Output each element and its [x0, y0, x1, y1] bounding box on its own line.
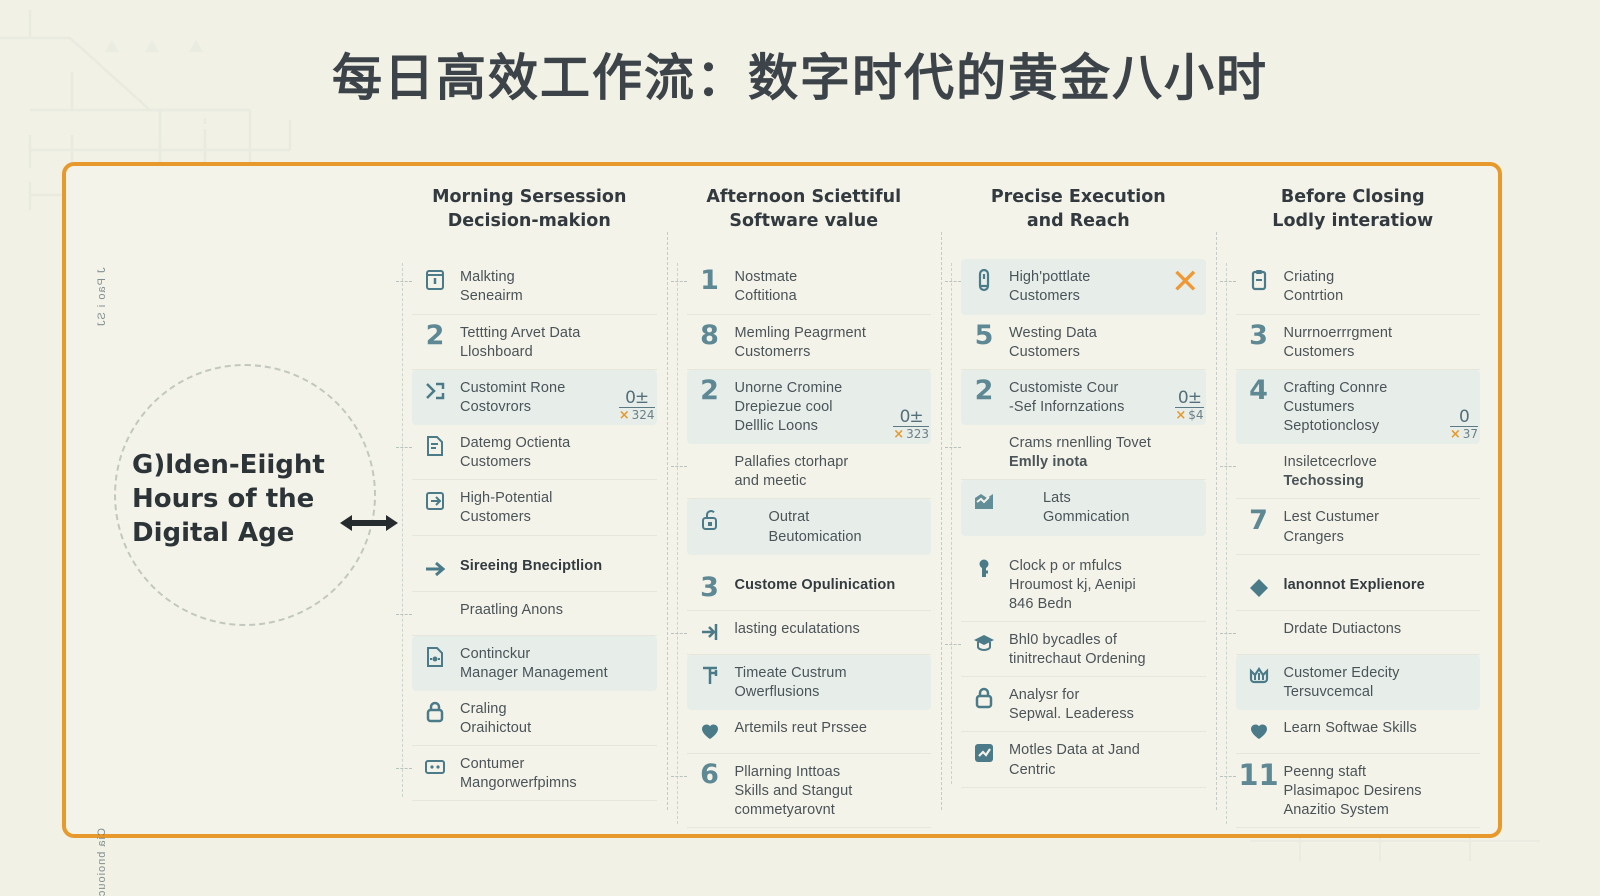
list-item[interactable]: Praatling Anons	[412, 592, 657, 636]
list-item-line1: Learn Softwae Skills	[1284, 719, 1475, 738]
list-item-text: ContumerMangorwerfpimns	[460, 753, 651, 793]
list-item-line1: Contumer	[460, 755, 651, 774]
list-item-text: LatsGommication	[1009, 487, 1200, 527]
graduation-icon	[969, 629, 999, 657]
list-item-line1: Praatling Anons	[460, 601, 651, 620]
number-label: 2	[426, 322, 445, 349]
list-item[interactable]: ContinckurManager Management	[412, 636, 657, 691]
list-item-line2: Customers	[1009, 343, 1200, 362]
list-item[interactable]: 2Unorne CromineDrepiezue coolDelllic Loo…	[687, 370, 932, 444]
list-item[interactable]: Customint RoneCostovrors0±×324	[412, 370, 657, 425]
list-item-text: Crafting ConnreCustumersSeptotionclosy	[1284, 377, 1475, 436]
list-item-text: Customer EdecityTersuvcemcal	[1284, 662, 1475, 702]
list-item-number: 3	[695, 574, 725, 602]
document-icon	[420, 432, 450, 460]
number-label: 1	[700, 267, 719, 294]
list-item-line1: Clock p or mfulcs	[1009, 557, 1200, 576]
list-item-line1: Bhl0 bycadles of	[1009, 631, 1200, 650]
column-morning: Morning SersessionDecision-makionMalktin…	[392, 172, 667, 828]
number-label: 7	[1249, 507, 1268, 534]
connector-line	[1220, 633, 1236, 634]
list-item-line2: Gommication	[1043, 508, 1200, 527]
list-item[interactable]: 7Lest CustumerCrangers	[1236, 499, 1481, 554]
metric-badge-top: 0±	[1175, 390, 1203, 407]
list-item-line3: Anazitio System	[1284, 801, 1475, 820]
list-item-line1: Outrat	[769, 508, 926, 527]
list-item-line3: Septotionclosy	[1284, 417, 1475, 436]
metric-badge: 0±×323	[893, 409, 929, 441]
list-item-line1: Crafting Connre	[1284, 379, 1475, 398]
list-item-text: Motles Data at JandCentric	[1009, 739, 1200, 779]
mobile-icon	[969, 266, 999, 294]
metric-badge: 0±×$4	[1175, 390, 1203, 422]
list-item-line1: Westing Data	[1009, 324, 1200, 343]
list-item-line1: Peenng staft	[1284, 763, 1475, 782]
no-marker	[695, 451, 725, 479]
list-item-line2: Oraihictout	[460, 719, 651, 738]
connector-line	[671, 776, 687, 777]
column-list-morning: MalktingSeneairm2Tettting Arvet DataLlos…	[402, 259, 657, 801]
list-item-text: OutratBeutomication	[735, 506, 926, 546]
list-item-text: CriatingContrtion	[1284, 266, 1475, 306]
book-icon	[420, 266, 450, 294]
list-item-line2: Crangers	[1284, 528, 1475, 547]
list-item-line1: Craling	[460, 700, 651, 719]
column-header-line2: and Reach	[951, 210, 1206, 234]
list-item-number: 5	[969, 322, 999, 350]
metric-badge: 0×37	[1450, 409, 1478, 441]
chart-box-icon	[969, 739, 999, 767]
list-item-line1: Timeate Custrum	[735, 664, 926, 683]
list-item-line2: Mangorwerfpimns	[460, 774, 651, 793]
column-header-morning: Morning SersessionDecision-makion	[402, 186, 657, 233]
list-item-line2: Emlly inota	[1009, 453, 1200, 472]
list-item[interactable]: CriatingContrtion	[1236, 259, 1481, 314]
list-item-line1: Artemils reut Prssee	[735, 719, 926, 738]
list-item-line1: Custome Opulinication	[735, 576, 926, 595]
list-item[interactable]: Learn Softwae Skills	[1236, 710, 1481, 754]
list-item-text: Peenng staftPlasimapoc DesirensAnazitio …	[1284, 761, 1475, 820]
crown-icon	[1244, 662, 1274, 690]
metric-badge-bottom: ×324	[619, 407, 655, 422]
list-item-line1: Malkting	[460, 268, 651, 287]
number-label: 11	[1238, 761, 1278, 790]
list-item-line2: Techossing	[1284, 472, 1475, 491]
list-item[interactable]: Sireeing Bneciptlion	[412, 548, 657, 592]
list-item-text: InsiletcecrloveTechossing	[1284, 451, 1475, 491]
list-item[interactable]: 3Custome Opulinication	[687, 567, 932, 611]
multiply-icon: ×	[893, 427, 904, 442]
list-item-line1: Analysr for	[1009, 686, 1200, 705]
list-item[interactable]: 2Customiste Cour-Sef Infornzations0±×$4	[961, 370, 1206, 425]
list-item[interactable]: MalktingSeneairm	[412, 259, 657, 314]
list-item[interactable]: 11Peenng staftPlasimapoc DesirensAnaziti…	[1236, 754, 1481, 828]
arrow-right-icon	[420, 555, 450, 583]
ruler-icon	[695, 662, 725, 690]
metric-badge-top: 0	[1450, 409, 1478, 426]
list-item-line2: Skills and Stangut	[735, 782, 926, 801]
diamond-icon	[1244, 574, 1274, 602]
list-item-text: lanonnot Explienore	[1284, 574, 1475, 595]
metric-badge-value: 324	[632, 408, 655, 422]
x-close-icon[interactable]: ✕	[1171, 265, 1200, 299]
list-item[interactable]: 5Westing DataCustomers	[961, 315, 1206, 370]
list-item-line1: Customiste Cour	[1009, 379, 1200, 398]
number-label: 6	[700, 761, 719, 788]
list-item-text: Bhl0 bycadles oftinitrechaut Ordening	[1009, 629, 1200, 669]
list-item-number: 8	[695, 322, 725, 350]
hub-title: G)lden-Eiight Hours of the Digital Age	[132, 449, 362, 550]
list-item[interactable]: Customer EdecityTersuvcemcal	[1236, 655, 1481, 710]
list-item-text: NostmateCoftitiona	[735, 266, 926, 306]
list-item[interactable]: Timeate CustrumOwerflusions	[687, 655, 932, 710]
list-item-line2: Customers	[460, 453, 651, 472]
list-item-text: Pallafies ctorhaprand meetic	[735, 451, 926, 491]
column-header-line1: Afternoon Sciettiful	[677, 186, 932, 210]
central-hub: G)lden-Eiight Hours of the Digital Age	[92, 172, 392, 828]
list-item[interactable]: Crams rnenlling TovetEmlly inota	[961, 425, 1206, 480]
list-item[interactable]: Bhl0 bycadles oftinitrechaut Ordening	[961, 622, 1206, 677]
list-item-line3: 846 Bedn	[1009, 595, 1200, 614]
list-item[interactable]: 3NurrnoerrrgmentCustomers	[1236, 315, 1481, 370]
double-arrow-icon	[338, 512, 400, 534]
list-item-line1: Lest Custumer	[1284, 508, 1475, 527]
list-item-text: Customiste Cour-Sef Infornzations	[1009, 377, 1200, 417]
workflow-board: J Pao i SJ Cia bnoiouc 1 aig G)lden-Eiig…	[62, 162, 1502, 838]
multiply-icon: ×	[619, 408, 630, 423]
list-item-text: Analysr forSepwal. Leaderess	[1009, 684, 1200, 724]
list-item-text: Tettting Arvet DataLloshboard	[460, 322, 651, 362]
list-item-line2: Seneairm	[460, 287, 651, 306]
connector-line	[396, 281, 412, 282]
multiply-icon: ×	[1175, 408, 1186, 423]
number-label: 8	[700, 322, 719, 349]
list-item-number: 2	[420, 322, 450, 350]
list-item-text: Timeate CustrumOwerflusions	[735, 662, 926, 702]
list-item-line2: Coftitiona	[735, 287, 926, 306]
list-item-text: Crams rnenlling TovetEmlly inota	[1009, 432, 1200, 472]
metric-badge: 0±×324	[619, 390, 655, 422]
metric-badge-top: 0±	[619, 390, 655, 407]
list-item-line1: Lats	[1043, 489, 1200, 508]
list-item[interactable]: lasting eculatations	[687, 611, 932, 655]
list-item-line1: Nostmate	[735, 268, 926, 287]
list-item[interactable]: Artemils reut Prssee	[687, 710, 932, 754]
metric-badge-value: 323	[906, 427, 929, 441]
connector-line	[1220, 281, 1236, 282]
number-label: 2	[700, 377, 719, 404]
page-title: 每日高效工作流：数字时代的黄金八小时	[0, 38, 1600, 110]
list-item-line2: Customers	[1284, 343, 1475, 362]
list-item[interactable]: High-PotentialCustomers	[412, 480, 657, 535]
list-item[interactable]: lanonnot Explienore	[1236, 567, 1481, 611]
list-item-text: Lest CustumerCrangers	[1284, 506, 1475, 546]
column-list-afternoon: 1NostmateCoftitiona8Memling PeagrmentCus…	[677, 259, 932, 828]
list-item-text: CralingOraihictout	[460, 698, 651, 738]
list-item-line1: Datemg Octienta	[460, 434, 651, 453]
no-marker	[1244, 451, 1274, 479]
list-item-text: Sireeing Bneciptlion	[460, 555, 651, 576]
shuffle-icon	[420, 377, 450, 405]
list-item-line1: Nurrnoerrrgment	[1284, 324, 1475, 343]
list-item[interactable]: InsiletcecrloveTechossing	[1236, 444, 1481, 499]
hub-title-line3: Digital Age	[132, 517, 362, 551]
list-item-line1: Pllarning Inttoas	[735, 763, 926, 782]
list-item[interactable]: Pallafies ctorhaprand meetic	[687, 444, 932, 499]
list-item-number: 2	[695, 377, 725, 405]
list-item-line2: Plasimapoc Desirens	[1284, 782, 1475, 801]
list-item-text: Learn Softwae Skills	[1284, 717, 1475, 738]
list-item-text: Drdate Dutiactons	[1284, 618, 1475, 639]
export-icon	[420, 487, 450, 515]
connector-line	[945, 281, 961, 282]
hub-title-line2: Hours of the	[132, 483, 362, 517]
list-item-number: 1	[695, 266, 725, 294]
no-marker	[1244, 618, 1274, 646]
column-header-line1: Precise Execution	[951, 186, 1206, 210]
list-item-line2: Beutomication	[769, 528, 926, 547]
columns-container: Morning SersessionDecision-makionMalktin…	[392, 172, 1490, 828]
list-item[interactable]: LatsGommication	[961, 480, 1206, 535]
connector-line	[396, 447, 412, 448]
connector-line	[671, 281, 687, 282]
number-label: 3	[700, 574, 719, 601]
login-icon	[695, 618, 725, 646]
list-item-line1: Customer Edecity	[1284, 664, 1475, 683]
file-settings-icon	[420, 643, 450, 671]
list-item-line2: Manager Management	[460, 664, 651, 683]
list-item-text: Datemg OctientaCustomers	[460, 432, 651, 472]
list-item-line2: -Sef Infornzations	[1009, 398, 1200, 417]
list-item-text: Artemils reut Prssee	[735, 717, 926, 738]
lock-icon	[420, 698, 450, 726]
number-label: 4	[1249, 377, 1268, 404]
lock-icon	[969, 684, 999, 712]
list-item-number: 6	[695, 761, 725, 789]
number-label: 2	[975, 377, 994, 404]
list-item[interactable]: Analysr forSepwal. Leaderess	[961, 677, 1206, 732]
heart-icon	[695, 717, 725, 745]
column-header-line1: Before Closing	[1226, 186, 1481, 210]
list-item-text: Memling PeagrmentCustomerrs	[735, 322, 926, 362]
list-item-line1: Motles Data at Jand	[1009, 741, 1200, 760]
list-item-line1: Memling Peagrment	[735, 324, 926, 343]
list-item-line1: Continckur	[460, 645, 651, 664]
column-afternoon: Afternoon SciettifulSoftware value1Nostm…	[667, 172, 942, 828]
heart-icon	[1244, 717, 1274, 745]
list-item-line2: Customerrs	[735, 343, 926, 362]
list-item-line2: Centric	[1009, 761, 1200, 780]
number-label: 3	[1249, 322, 1268, 349]
clipboard-icon	[1244, 266, 1274, 294]
list-item[interactable]: OutratBeutomication	[687, 499, 932, 554]
multiply-icon: ×	[1450, 427, 1461, 442]
connector-line	[671, 466, 687, 467]
list-item-text: Custome Opulinication	[735, 574, 926, 595]
connector-line	[1220, 776, 1236, 777]
list-item-number: 4	[1244, 377, 1274, 405]
column-closing: Before ClosingLodly interatiowCriatingCo…	[1216, 172, 1491, 828]
list-item-line1: Tettting Arvet Data	[460, 324, 651, 343]
column-list-closing: CriatingContrtion3NurrnoerrrgmentCustome…	[1226, 259, 1481, 828]
metric-badge-bottom: ×$4	[1175, 407, 1203, 422]
list-item-line1: High-Potential	[460, 489, 651, 508]
column-header-closing: Before ClosingLodly interatiow	[1226, 186, 1481, 233]
list-item-line2: and meetic	[735, 472, 926, 491]
list-item-line1: Pallafies ctorhapr	[735, 453, 926, 472]
column-header-precise: Precise Executionand Reach	[951, 186, 1206, 233]
list-item[interactable]: 6Pllarning InttoasSkills and Stangutcomm…	[687, 754, 932, 828]
list-item-text: NurrnoerrrgmentCustomers	[1284, 322, 1475, 362]
list-item-line1: lanonnot Explienore	[1284, 576, 1475, 595]
list-item[interactable]: Motles Data at JandCentric	[961, 732, 1206, 787]
connector-line	[1220, 466, 1236, 467]
column-list-precise: High'pottlateCustomers✕5Westing DataCust…	[951, 259, 1206, 787]
list-item-number: 11	[1244, 761, 1274, 790]
list-item-number: 7	[1244, 506, 1274, 534]
list-item-text: Westing DataCustomers	[1009, 322, 1200, 362]
metric-badge-bottom: ×37	[1450, 426, 1478, 441]
unlock-icon	[695, 506, 725, 534]
list-item-line2: tinitrechaut Ordening	[1009, 650, 1200, 669]
list-item[interactable]: High'pottlateCustomers✕	[961, 259, 1206, 314]
list-item[interactable]: 4Crafting ConnreCustumersSeptotionclosy0…	[1236, 370, 1481, 444]
hub-title-line1: G)lden-Eiight	[132, 449, 362, 483]
list-item-number: 2	[969, 377, 999, 405]
number-label: 5	[975, 322, 994, 349]
connector-line	[945, 447, 961, 448]
no-marker	[969, 432, 999, 460]
column-header-line2: Decision-makion	[402, 210, 657, 234]
list-item-number: 3	[1244, 322, 1274, 350]
list-item-text: MalktingSeneairm	[460, 266, 651, 306]
list-item-line1: Insiletcecrlove	[1284, 453, 1475, 472]
list-item[interactable]: Datemg OctientaCustomers	[412, 425, 657, 480]
list-item-line2: Owerflusions	[735, 683, 926, 702]
edge-label-bottom: Cia bnoiouc 1 aig	[96, 828, 108, 896]
list-item-line2: Customers	[460, 508, 651, 527]
list-item-text: Pllarning InttoasSkills and Stangutcomme…	[735, 761, 926, 820]
list-item[interactable]: 1NostmateCoftitiona	[687, 259, 932, 314]
list-item-line2: Custumers	[1284, 398, 1475, 417]
list-item[interactable]: ContumerMangorwerfpimns	[412, 746, 657, 801]
list-item-text: High-PotentialCustomers	[460, 487, 651, 527]
column-header-line1: Morning Sersession	[402, 186, 657, 210]
list-item-line2: Tersuvcemcal	[1284, 683, 1475, 702]
list-item-text: Praatling Anons	[460, 599, 651, 620]
metric-badge-top: 0±	[893, 409, 929, 426]
metric-badge-value: $4	[1188, 408, 1203, 422]
connector-line	[396, 614, 412, 615]
list-item-text: ContinckurManager Management	[460, 643, 651, 683]
list-item-line2: Sepwal. Leaderess	[1009, 705, 1200, 724]
key-icon	[969, 555, 999, 583]
list-item-line1: Sireeing Bneciptlion	[460, 557, 651, 576]
list-item-line1: Crams rnenlling Tovet	[1009, 434, 1200, 453]
list-item-text: lasting eculatations	[735, 618, 926, 639]
list-item-line1: Criating	[1284, 268, 1475, 287]
list-item-text: Clock p or mfulcsHroumost kj, Aenipi846 …	[1009, 555, 1200, 614]
list-item-line2: Lloshboard	[460, 343, 651, 362]
column-header-afternoon: Afternoon SciettifulSoftware value	[677, 186, 932, 233]
list-item[interactable]: CralingOraihictout	[412, 691, 657, 746]
list-item[interactable]: Drdate Dutiactons	[1236, 611, 1481, 655]
list-item[interactable]: Clock p or mfulcsHroumost kj, Aenipi846 …	[961, 548, 1206, 622]
connector-line	[671, 633, 687, 634]
list-item-line3: commetyarovnt	[735, 801, 926, 820]
list-item[interactable]: 2Tettting Arvet DataLloshboard	[412, 315, 657, 370]
metric-badge-value: 37	[1463, 427, 1478, 441]
column-header-line2: Lodly interatiow	[1226, 210, 1481, 234]
list-item-line2: Hroumost kj, Aenipi	[1009, 576, 1200, 595]
card-icon	[420, 753, 450, 781]
column-header-line2: Software value	[677, 210, 932, 234]
column-precise: Precise Executionand ReachHigh'pottlateC…	[941, 172, 1216, 828]
no-marker	[420, 599, 450, 627]
list-item-line1: lasting eculatations	[735, 620, 926, 639]
list-item[interactable]: 8Memling PeagrmentCustomerrs	[687, 315, 932, 370]
list-item-line1: Unorne Cromine	[735, 379, 926, 398]
list-item-line2: Contrtion	[1284, 287, 1475, 306]
connector-line	[945, 644, 961, 645]
metric-badge-bottom: ×323	[893, 426, 929, 441]
chart-up-icon	[969, 487, 999, 515]
list-item-line1: Drdate Dutiactons	[1284, 620, 1475, 639]
connector-line	[396, 768, 412, 769]
